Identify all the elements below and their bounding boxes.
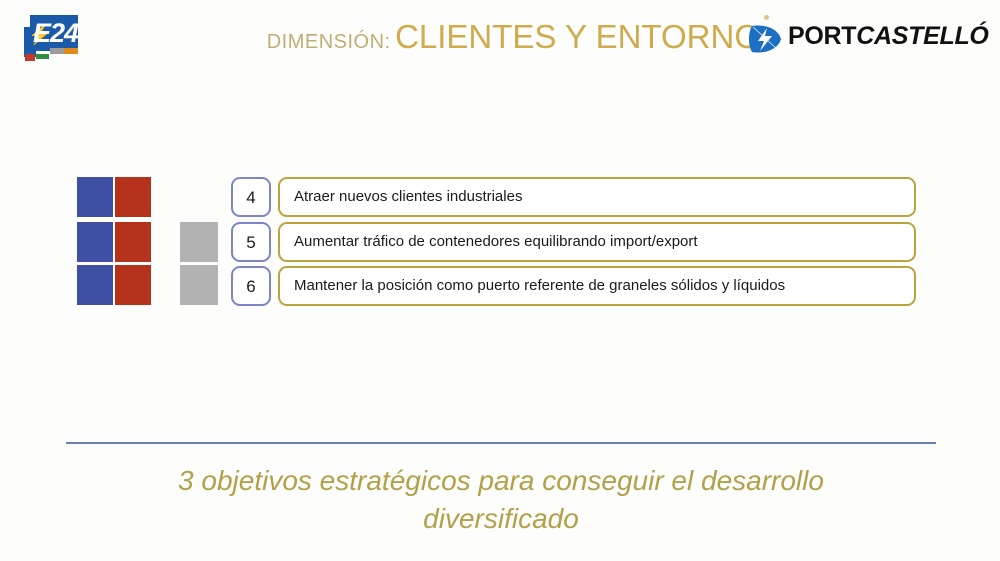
footer-caption-line-1: 3 objetivos estratégicos para conseguir … <box>70 462 932 500</box>
footer-divider <box>66 442 936 444</box>
objective-text-6[interactable]: Mantener la posición como puerto referen… <box>278 266 916 306</box>
objective-text-4[interactable]: Atraer nuevos clientes industriales <box>278 177 916 217</box>
objective-number-6[interactable]: 6 <box>231 266 271 306</box>
color-block-blue-3 <box>77 265 113 305</box>
objective-number-4[interactable]: 4 <box>231 177 271 217</box>
gray-block-2 <box>180 265 218 305</box>
gray-block-1 <box>180 222 218 262</box>
footer-caption: 3 objetivos estratégicos para conseguir … <box>70 462 932 538</box>
color-block-red-1 <box>115 177 151 217</box>
footer-caption-line-2: diversificado <box>70 500 932 538</box>
color-block-red-3 <box>115 265 151 305</box>
color-block-blue-2 <box>77 222 113 262</box>
color-block-red-2 <box>115 222 151 262</box>
color-block-blue-1 <box>77 177 113 217</box>
objective-text-5[interactable]: Aumentar tráfico de contenedores equilib… <box>278 222 916 262</box>
objective-number-5[interactable]: 5 <box>231 222 271 262</box>
